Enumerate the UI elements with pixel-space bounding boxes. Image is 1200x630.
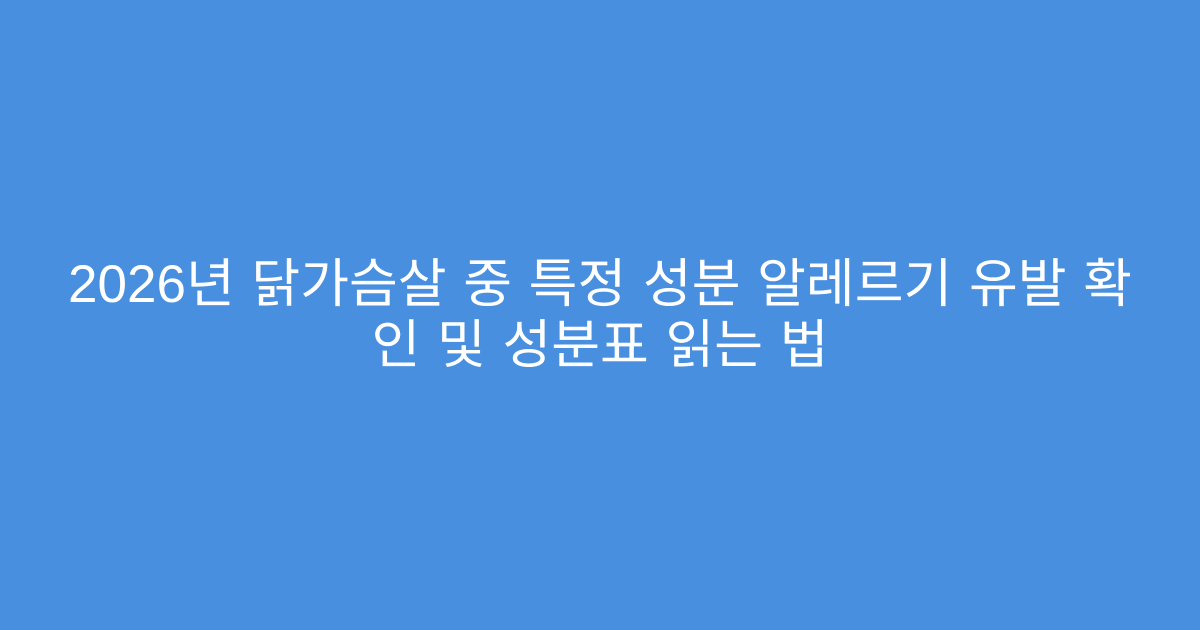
title-container: 2026년 닭가슴살 중 특정 성분 알레르기 유발 확인 및 성분표 읽는 법 (0, 254, 1200, 376)
og-card-canvas: 2026년 닭가슴살 중 특정 성분 알레르기 유발 확인 및 성분표 읽는 법 (0, 0, 1200, 630)
page-title: 2026년 닭가슴살 중 특정 성분 알레르기 유발 확인 및 성분표 읽는 법 (62, 254, 1138, 376)
